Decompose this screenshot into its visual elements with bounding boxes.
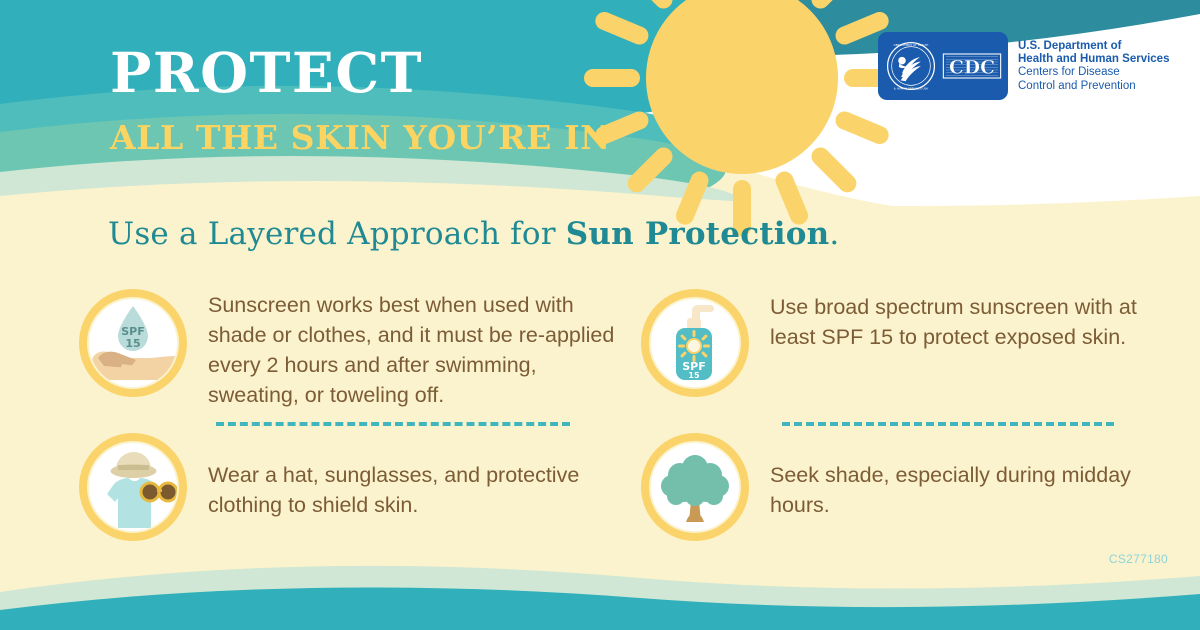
infographic-poster: PROTECT ALL THE SKIN YOU’RE IN DEPARTMEN…	[0, 0, 1200, 630]
cdc-badge-text: CDC	[949, 56, 995, 78]
page-subtitle: ALL THE SKIN YOU’RE IN	[110, 118, 630, 158]
sunscreen-bottle-icon: SPF 15	[640, 288, 750, 398]
cdc-line-4: Control and Prevention	[1018, 80, 1169, 93]
section-heading-strong: Sun Protection	[566, 216, 830, 252]
tip-icon-wrapper	[78, 432, 188, 542]
shade-tree-icon	[640, 432, 750, 542]
svg-text:DEPARTMENT OF HEALTH: DEPARTMENT OF HEALTH	[894, 43, 929, 47]
cdc-line-3: Centers for Disease	[1018, 66, 1169, 79]
tip-text: Sunscreen works best when used with shad…	[188, 288, 618, 410]
page-title: PROTECT	[110, 44, 630, 102]
tip-item-broad-spectrum: SPF 15 Use broad spectrum sunscreen with…	[640, 288, 1160, 398]
sunscreen-drop-on-hand-icon: SPF 15	[78, 288, 188, 398]
cdc-line-1: U.S. Department of	[1018, 40, 1169, 53]
cs-number: CS277180	[1109, 552, 1168, 566]
cdc-agency-text: U.S. Department of Health and Human Serv…	[1018, 32, 1169, 93]
tip-item-sunscreen-reapply: SPF 15 Sunscreen works best when used wi…	[78, 288, 618, 410]
tip-icon-wrapper: SPF 15	[78, 288, 188, 398]
tip-text: Seek shade, especially during midday hou…	[750, 432, 1160, 520]
drop-spf-value: 15	[125, 337, 140, 350]
cdc-wordmark-icon: CDC	[942, 44, 1002, 88]
section-heading-end: .	[829, 216, 839, 252]
tip-icon-wrapper	[640, 432, 750, 542]
section-heading: Use a Layered Approach for Sun Protectio…	[108, 216, 839, 252]
cdc-badge: DEPARTMENT OF HEALTH & HUMAN SERVICES US…	[878, 32, 1008, 100]
tip-item-seek-shade: Seek shade, especially during midday hou…	[640, 432, 1160, 542]
tip-item-protective-clothing: Wear a hat, sunglasses, and protective c…	[78, 432, 618, 542]
section-heading-lead: Use a Layered Approach for	[108, 216, 566, 252]
divider-left	[216, 422, 570, 426]
cdc-logo[interactable]: DEPARTMENT OF HEALTH & HUMAN SERVICES US…	[878, 32, 1169, 100]
tip-text: Use broad spectrum sunscreen with at lea…	[750, 288, 1160, 352]
tip-icon-wrapper: SPF 15	[640, 288, 750, 398]
bottle-spf-value: 15	[688, 371, 700, 380]
sun-disc	[646, 0, 838, 174]
svg-text:& HUMAN SERVICES USA: & HUMAN SERVICES USA	[894, 86, 928, 90]
title-block: PROTECT ALL THE SKIN YOU’RE IN	[110, 44, 630, 158]
tip-text: Wear a hat, sunglasses, and protective c…	[188, 432, 618, 520]
hat-shirt-sunglasses-icon	[78, 432, 188, 542]
hhs-seal-icon: DEPARTMENT OF HEALTH & HUMAN SERVICES US…	[884, 39, 938, 93]
divider-right	[782, 422, 1114, 426]
cdc-line-2: Health and Human Services	[1018, 53, 1169, 66]
